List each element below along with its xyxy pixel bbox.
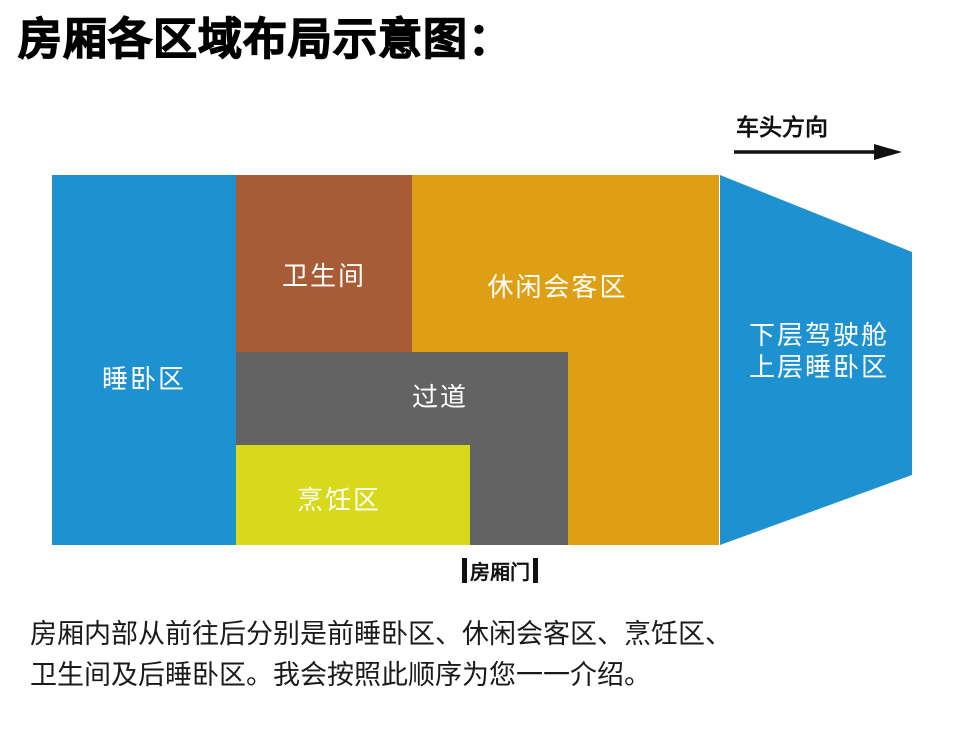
zone-bathroom[interactable]: 卫生间 bbox=[236, 175, 412, 352]
caption: 房厢内部从前往后分别是前睡卧区、休闲会客区、烹饪区、 卫生间及后睡卧区。我会按照… bbox=[30, 615, 935, 696]
door-label: 房厢门 bbox=[470, 556, 530, 585]
door-marker[interactable]: 房厢门 bbox=[462, 556, 538, 585]
zone-bathroom-label: 卫生间 bbox=[282, 262, 366, 292]
cabin-layout-diagram: 睡卧区 休闲会客区 卫生间 过道 烹饪区 下层驾驶舱 上层睡卧区 房厢门 bbox=[0, 0, 960, 600]
zone-kitchen[interactable]: 烹饪区 bbox=[236, 445, 470, 545]
zone-sleep-rear[interactable]: 睡卧区 bbox=[52, 175, 236, 545]
zone-lounge-label: 休闲会客区 bbox=[487, 273, 627, 303]
door-bar-right-icon bbox=[533, 558, 538, 583]
zone-kitchen-label: 烹饪区 bbox=[297, 486, 381, 516]
caption-line-1: 房厢内部从前往后分别是前睡卧区、休闲会客区、烹饪区、 bbox=[30, 615, 935, 656]
door-bar-left-icon bbox=[462, 558, 467, 583]
caption-line-2: 卫生间及后睡卧区。我会按照此顺序为您一一介绍。 bbox=[30, 656, 935, 697]
diagram-page: 房厢各区域布局示意图： 车头方向 睡卧区 休闲会客区 卫生间 过道 烹饪区 下层… bbox=[0, 0, 960, 740]
cab-trapezoid-shape bbox=[718, 170, 918, 550]
zone-cab[interactable]: 下层驾驶舱 上层睡卧区 bbox=[718, 170, 918, 550]
zone-sleep-rear-label: 睡卧区 bbox=[102, 365, 186, 395]
zone-corridor-label: 过道 bbox=[412, 383, 468, 413]
